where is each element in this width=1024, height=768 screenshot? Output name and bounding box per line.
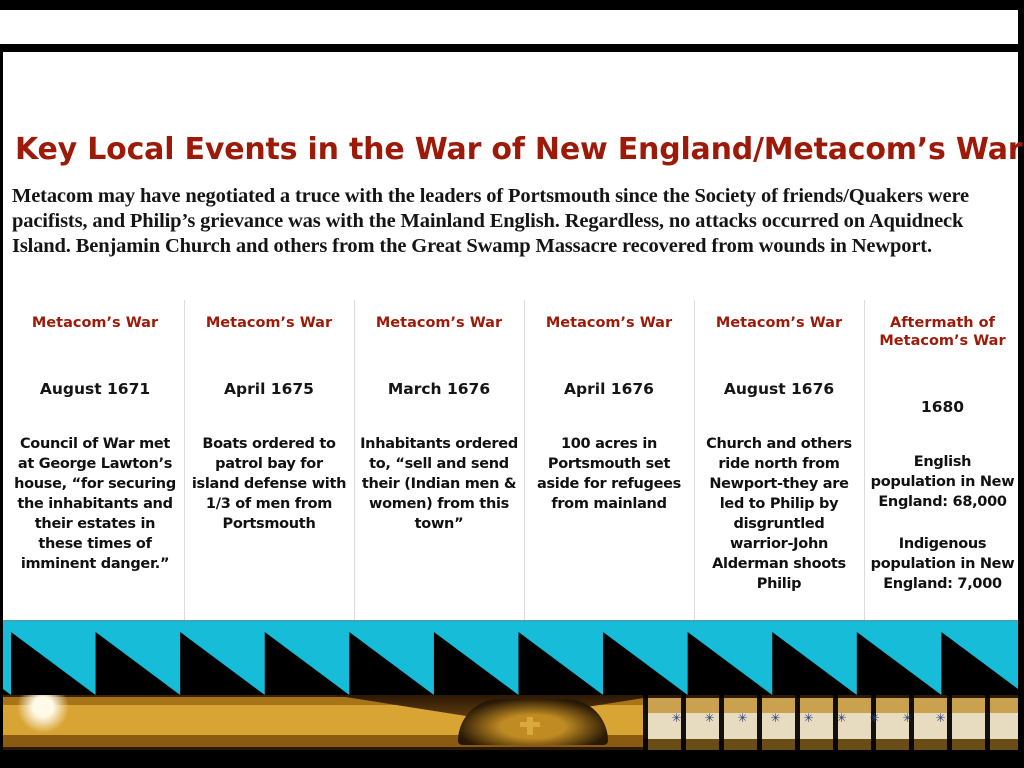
column-header: Metacom’s War (12, 314, 178, 332)
interior-photo-strip: ✳✳✳✳✳✳✳✳✳ (3, 695, 1018, 750)
column-date: 1680 (870, 398, 1015, 416)
flower-icon: ✳ (770, 713, 781, 724)
column-header: Metacom’s War (190, 314, 348, 332)
timeline-column: Metacom’s War August 1671 Council of War… (6, 300, 184, 620)
flower-icon: ✳ (737, 713, 748, 724)
flower-icon: ✳ (704, 713, 715, 724)
column-body: Church and others ride north from Newpor… (700, 434, 858, 594)
photo-window-mullions (643, 695, 1018, 750)
intro-paragraph: Metacom may have negotiated a truce with… (12, 184, 1012, 259)
top-black-bar (0, 0, 1024, 10)
timeline-column: Aftermath of Metacom’s War 1680 English … (864, 300, 1021, 620)
flower-icon: ✳ (869, 713, 880, 724)
page-title: Key Local Events in the War of New Engla… (15, 132, 995, 167)
bottom-black-bar (0, 750, 1024, 768)
column-body-secondary: Indigenous population in New England: 7,… (870, 534, 1015, 594)
column-header: Aftermath of Metacom’s War (870, 314, 1015, 350)
cross-icon (527, 717, 533, 735)
column-date: April 1675 (190, 380, 348, 398)
timeline-column: Metacom’s War August 1676 Church and oth… (694, 300, 864, 620)
flower-icon: ✳ (836, 713, 847, 724)
timeline-columns: Metacom’s War August 1671 Council of War… (6, 300, 1021, 620)
column-date: August 1676 (700, 380, 858, 398)
timeline-column: Metacom’s War March 1676 Inhabitants ord… (354, 300, 524, 620)
top-white-band (0, 10, 1018, 44)
flower-icon: ✳ (935, 713, 946, 724)
top-black-rule (0, 44, 1018, 52)
column-date: August 1671 (12, 380, 178, 398)
flower-icon: ✳ (671, 713, 682, 724)
column-date: March 1676 (360, 380, 518, 398)
sawtooth-icon (3, 632, 1018, 695)
cyan-top-edge (3, 620, 1018, 622)
column-body: 100 acres in Portsmouth set aside for re… (530, 434, 688, 514)
column-body: Council of War met at George Lawton’s ho… (12, 434, 178, 574)
column-body: Inhabitants ordered to, “sell and send t… (360, 434, 518, 534)
column-header: Metacom’s War (700, 314, 858, 332)
column-header: Metacom’s War (360, 314, 518, 332)
timeline-column: Metacom’s War April 1676 100 acres in Po… (524, 300, 694, 620)
column-header: Metacom’s War (530, 314, 688, 332)
cyan-sawtooth-band (3, 620, 1018, 695)
column-date: April 1676 (530, 380, 688, 398)
slide-content-card: Key Local Events in the War of New Engla… (3, 52, 1018, 620)
timeline-column: Metacom’s War April 1675 Boats ordered t… (184, 300, 354, 620)
column-body: Boats ordered to patrol bay for island d… (190, 434, 348, 534)
flower-icon: ✳ (902, 713, 913, 724)
column-body: English population in New England: 68,00… (870, 452, 1015, 512)
flower-icon: ✳ (803, 713, 814, 724)
slide-canvas: Key Local Events in the War of New Engla… (0, 0, 1024, 768)
